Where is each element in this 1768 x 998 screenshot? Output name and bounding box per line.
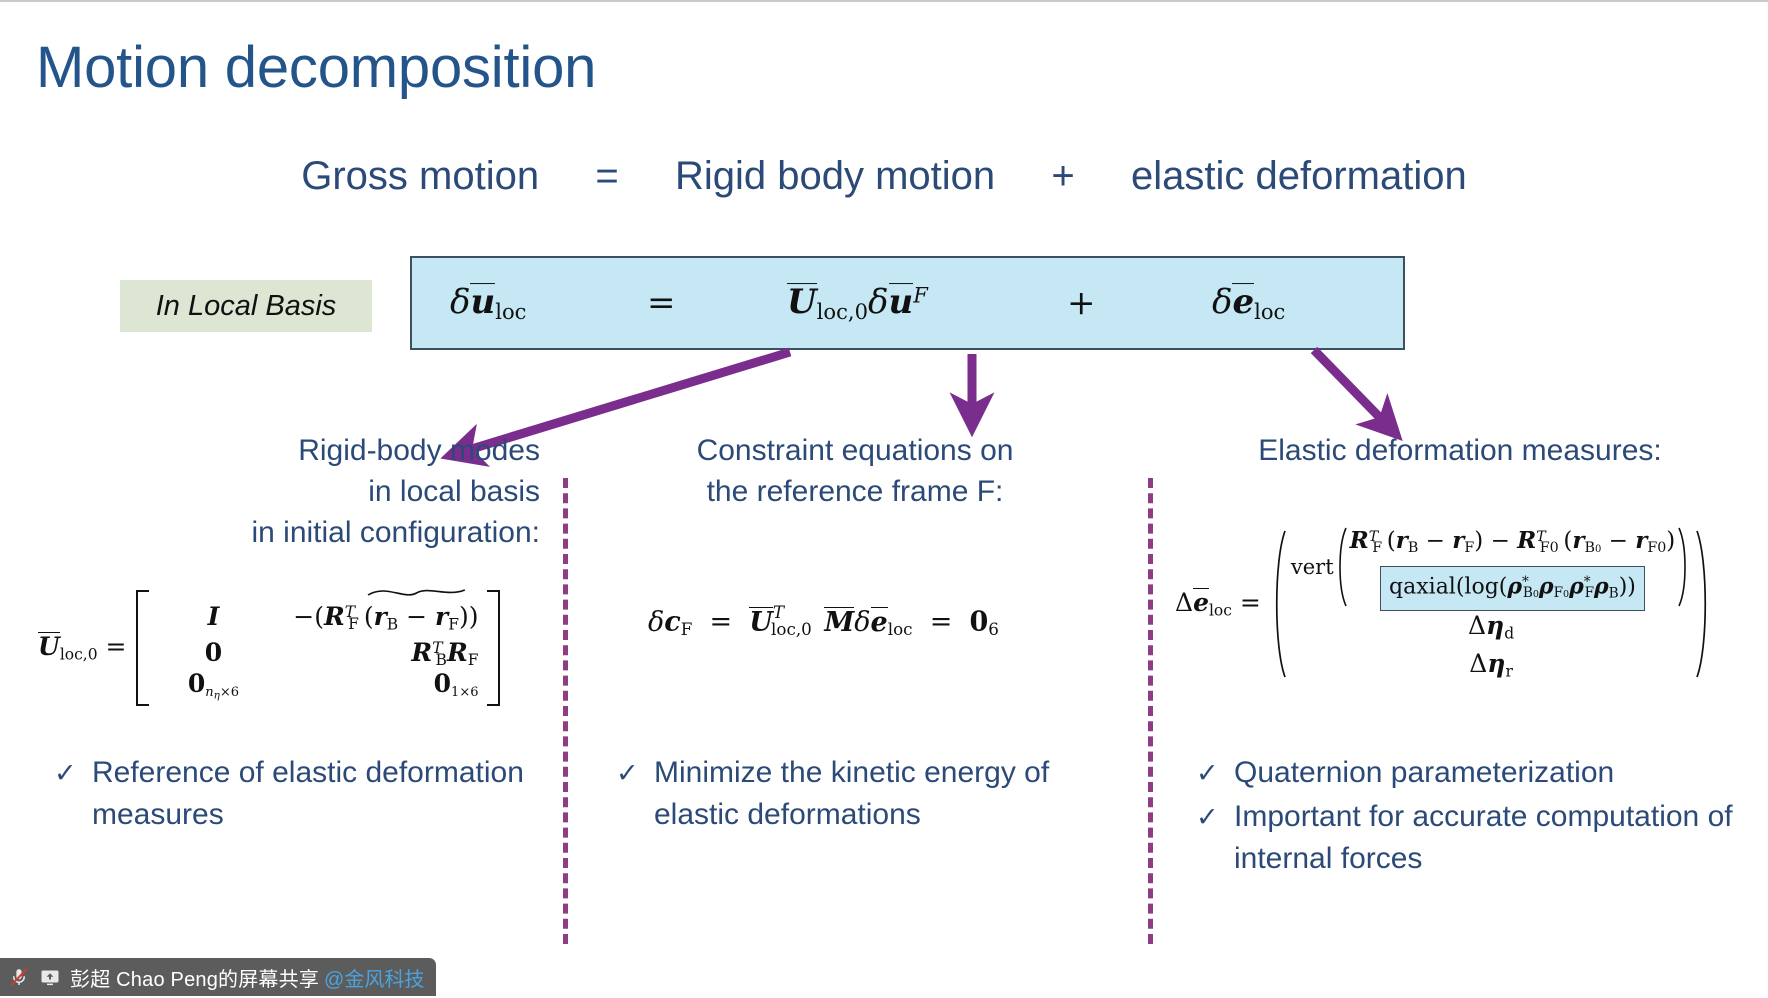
stack-row-vert-group: vert RTF (rB − rF) − RTF0 (rB0 − rF0) qa… <box>1291 522 1691 611</box>
column-elastic-deformation: Elastic deformation measures: <box>1175 430 1745 471</box>
main-equation-lhs: δuloc <box>450 282 526 324</box>
bullet-label: Minimize the kinetic energy of elastic d… <box>654 752 1130 836</box>
check-icon: ✓ <box>48 752 92 794</box>
vert-operator-label: vert <box>1291 552 1334 582</box>
matrix-cell: 01×6 <box>268 666 478 711</box>
elastic-row-qaxial-highlighted: qaxial(log(ρ*B0ρF0ρ*FρB)) <box>1380 566 1645 611</box>
matrix-bracket-right <box>487 590 500 706</box>
screen-share-status-bar[interactable]: 彭超 Chao Peng的屏幕共享 @金风科技 <box>0 958 436 996</box>
share-watermark: @金风科技 <box>324 963 424 992</box>
headline-part-gross-motion: Gross motion <box>301 152 539 200</box>
main-equation-plus-sign: + <box>1067 283 1096 323</box>
inner-paren-right <box>1676 526 1690 608</box>
check-icon: ✓ <box>610 752 654 794</box>
in-local-basis-label: In Local Basis <box>156 290 337 323</box>
in-local-basis-tag: In Local Basis <box>120 280 372 332</box>
bullets-right-column: ✓ Quaternion parameterization ✓ Importan… <box>1190 752 1760 882</box>
microphone-muted-icon[interactable] <box>8 966 30 988</box>
bullets-middle-column: ✓ Minimize the kinetic energy of elastic… <box>610 752 1130 838</box>
column-left-heading-line2: in local basis <box>20 471 540 512</box>
formula-constraint-equation: δcF = UTloc,0 Mδeloc = 06 <box>648 602 999 639</box>
headline-part-elastic-deformation: elastic deformation <box>1131 152 1467 200</box>
column-divider-left <box>563 478 568 944</box>
main-equation-box: δuloc = Uloc,0δuF + δeloc <box>410 256 1405 350</box>
elastic-row-delta-eta-d: Δηd <box>1468 611 1514 648</box>
column-constraint-equations: Constraint equations on the reference fr… <box>590 430 1120 512</box>
column-rigid-body-modes: Rigid-body modes in local basis in initi… <box>20 430 540 553</box>
check-icon: ✓ <box>1190 796 1234 838</box>
inner-paren-left <box>1335 526 1349 608</box>
bullet-label: Quaternion parameterization <box>1234 752 1614 794</box>
share-status-text: 彭超 Chao Peng的屏幕共享 <box>70 963 319 992</box>
headline-row: Gross motion = Rigid body motion + elast… <box>0 152 1768 200</box>
bullet-label: Reference of elastic deformation measure… <box>92 752 548 836</box>
matrix-cell: 0nη×6 <box>158 666 268 713</box>
list-item: ✓ Reference of elastic deformation measu… <box>48 752 548 836</box>
column-middle-heading-line2: the reference frame F: <box>590 471 1120 512</box>
column-left-heading-line1: Rigid-body modes <box>20 430 540 471</box>
screen-share-icon[interactable] <box>39 966 61 988</box>
matrix-bracket-left <box>136 590 149 706</box>
main-equation-rhs-elastic-term: δeloc <box>1212 282 1285 324</box>
formula-left-lhs: Uloc,0 = <box>38 632 126 663</box>
elastic-row-vert-expression: RTF (rB − rF) − RTF0 (rB0 − rF0) <box>1350 522 1676 565</box>
column-middle-heading-line1: Constraint equations on <box>590 430 1120 471</box>
matrix-body: I −(RTF (rB − rF)) 0 RTBRF 0nη×6 <box>149 590 487 706</box>
list-item: ✓ Important for accurate computation of … <box>1190 796 1760 880</box>
column-middle-heading: Constraint equations on the reference fr… <box>590 430 1120 512</box>
outer-paren-right <box>1693 529 1713 679</box>
main-equation-equals-sign: = <box>647 283 676 323</box>
headline-part-rigid-body-motion: Rigid body motion <box>675 152 995 200</box>
bullet-label: Important for accurate computation of in… <box>1234 796 1760 880</box>
list-item: ✓ Minimize the kinetic energy of elastic… <box>610 752 1130 836</box>
arrow-to-elastic-deformation <box>1314 350 1392 430</box>
matrix-row: I −(RTF (rB − rF)) <box>158 594 478 630</box>
column-left-heading: Rigid-body modes in local basis in initi… <box>20 430 540 553</box>
formula-elastic-deformation-measures: Δeloc = vert RTF (rB − rF) − RTF0 (rB0 −… <box>1175 522 1713 686</box>
column-left-heading-line3: in initial configuration: <box>20 512 540 553</box>
list-item: ✓ Quaternion parameterization <box>1190 752 1760 794</box>
matrix-row: 0nη×6 01×6 <box>158 666 478 702</box>
outer-paren-left <box>1269 529 1289 679</box>
bullets-left-column: ✓ Reference of elastic deformation measu… <box>48 752 548 838</box>
elastic-row-delta-eta-r: Δηr <box>1469 649 1513 686</box>
column-right-heading-line1: Elastic deformation measures: <box>1175 430 1745 471</box>
check-icon: ✓ <box>1190 752 1234 794</box>
main-equation-rhs-rigid-term: Uloc,0δuF <box>787 282 928 324</box>
matrix-brackets: I −(RTF (rB − rF)) 0 RTBRF 0nη×6 <box>136 590 500 706</box>
slide-canvas: Motion decomposition Gross motion = Rigi… <box>0 0 1768 996</box>
formula-right-lhs: Δeloc = <box>1175 588 1261 619</box>
formula-rigid-body-modes-matrix: Uloc,0 = I −(RTF (rB − rF)) 0 RTBRF <box>38 590 500 706</box>
column-divider-right <box>1148 478 1153 944</box>
page-title: Motion decomposition <box>36 34 596 102</box>
headline-operator-plus: + <box>1051 152 1074 200</box>
headline-operator-equals: = <box>595 152 618 200</box>
column-right-heading: Elastic deformation measures: <box>1175 430 1745 471</box>
elastic-measure-stack: vert RTF (rB − rF) − RTF0 (rB0 − rF0) qa… <box>1289 522 1693 686</box>
